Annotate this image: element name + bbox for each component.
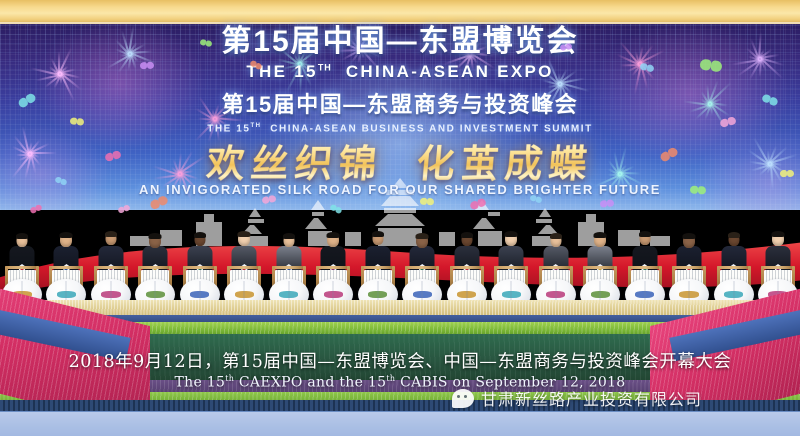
slogan-calligraphy: 欢丝织锦化茧成蝶	[0, 133, 800, 188]
disc-motif	[502, 291, 521, 298]
disc-motif	[146, 291, 165, 298]
disc-motif	[101, 291, 120, 298]
venue-floor	[0, 412, 800, 436]
disc-motif	[235, 291, 254, 298]
disc-motif	[279, 291, 298, 298]
disc-motif	[190, 291, 209, 298]
dignitary-hair	[327, 232, 340, 238]
disc-motif	[413, 291, 432, 298]
dignitary-hair	[60, 232, 73, 238]
caption-en-sup-1: th	[225, 374, 234, 383]
wechat-icon	[452, 389, 474, 408]
disc-motif	[724, 291, 743, 298]
expo-title-en-post: CHINA-ASEAN EXPO	[346, 62, 554, 81]
disc-motif	[57, 291, 76, 298]
event-photo: 第15届中国—东盟博览会 THE 15TH CHINA-ASEAN EXPO 第…	[0, 0, 800, 436]
butterfly-icon	[600, 199, 615, 207]
disc-motif	[635, 291, 654, 298]
dignitary-hair	[372, 231, 384, 237]
caption-chinese: 2018年9月12日，第15届中国—东盟博览会、中国—东盟商务与投资峰会开幕大会	[0, 348, 800, 373]
headline-block: 第15届中国—东盟博览会 THE 15TH CHINA-ASEAN EXPO 第…	[0, 26, 800, 135]
dignitary-hair	[728, 232, 740, 238]
dignitary-hair	[283, 233, 295, 239]
butterfly-icon	[780, 170, 794, 177]
slogan-cn-right: 化茧成蝶	[415, 141, 595, 186]
expo-title-cn: 第15届中国—东盟博览会	[0, 26, 800, 58]
expo-title-en-ordinal: TH	[318, 63, 332, 73]
caption-en-mid: CAEXPO and the 15	[234, 375, 386, 391]
dignitary-hair	[594, 232, 607, 238]
caption-en-sup-2: th	[386, 374, 395, 383]
disc-motif	[324, 291, 343, 298]
butterfly-icon	[420, 198, 434, 206]
dignitary-hair	[194, 232, 206, 238]
butterfly-icon	[140, 62, 154, 69]
dignitary-hair	[550, 233, 562, 239]
watermark-text: 甘肃新丝路产业投资有限公司	[481, 386, 702, 410]
dignitary-hair	[639, 231, 651, 237]
dignitary-hair	[505, 231, 518, 237]
dignitary-hair	[461, 232, 473, 238]
butterfly-icon	[690, 185, 707, 194]
dignitary-hair	[16, 233, 28, 239]
expo-title-en: THE 15TH CHINA-ASEAN EXPO	[0, 62, 800, 82]
disc-motif	[368, 291, 387, 298]
slogan-english: AN INVIGORATED SILK ROAD FOR OUR SHARED …	[0, 182, 800, 197]
disc-motif	[546, 291, 565, 298]
watermark: 甘肃新丝路产业投资有限公司	[452, 386, 702, 410]
summit-title-en-ordinal: TH	[250, 123, 261, 129]
caption-en-pre: The 15	[174, 375, 225, 391]
dignitary-hair	[416, 233, 429, 239]
disc-motif	[679, 291, 698, 298]
dignitary-hair	[105, 231, 117, 237]
dignitary-hair	[238, 231, 251, 237]
dignitary-hair	[149, 233, 162, 239]
slogan-cn-left: 欢丝织锦	[205, 141, 385, 186]
gold-stage-valance	[0, 0, 800, 24]
summit-title-cn: 第15届中国—东盟商务与投资峰会	[0, 87, 800, 119]
dignitary-hair	[683, 233, 696, 239]
disc-motif	[591, 291, 610, 298]
disc-motif	[457, 291, 476, 298]
dignitary-hair	[772, 231, 785, 237]
